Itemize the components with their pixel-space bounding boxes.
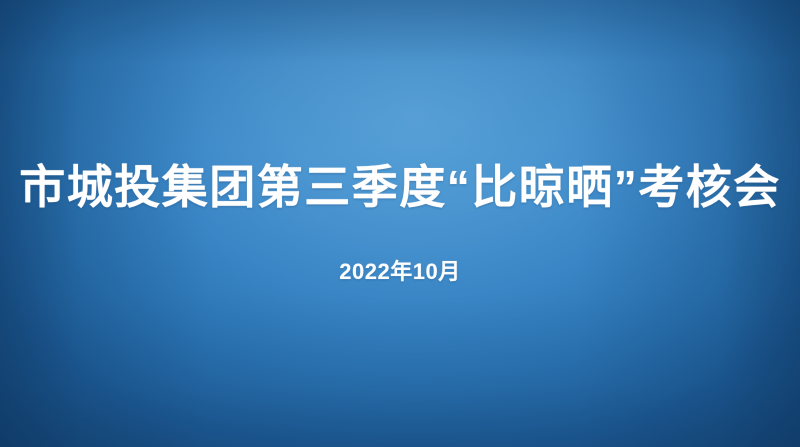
slide-subtitle-date: 2022年10月 [339, 261, 460, 283]
slide-content: 市城投集团第三季度“比晾晒”考核会 2022年10月 [0, 0, 800, 447]
slide-title: 市城投集团第三季度“比晾晒”考核会 [19, 164, 781, 210]
title-slide: 市城投集团第三季度“比晾晒”考核会 2022年10月 [0, 0, 800, 447]
